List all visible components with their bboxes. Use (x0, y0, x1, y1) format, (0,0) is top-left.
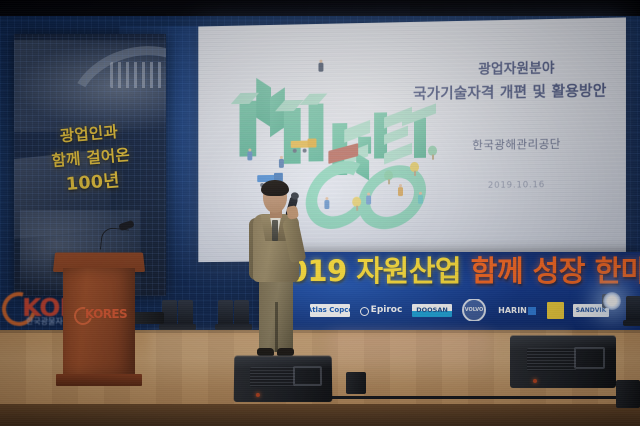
monitor-handle (293, 366, 323, 385)
harin-wordmark: HARIN (498, 306, 527, 315)
sponsor-logo-epiroc: Epiroc (359, 304, 403, 317)
logo-figure (418, 192, 423, 205)
epiroc-wordmark: Epiroc (371, 305, 403, 315)
volvo-iron-mark-icon: VOLVO (462, 299, 486, 321)
stage-light-flare (603, 292, 621, 310)
logo-yellow-loader (291, 137, 317, 150)
event-text-part-1: 자원산업 (356, 254, 461, 288)
presenter (246, 178, 308, 360)
wooden-lectern: KORES (63, 250, 135, 395)
event-text-part-2: 함께 성장 한마당 (471, 254, 640, 288)
event-banner-headline: 2019 자원산업 함께 성장 한마당 (268, 256, 640, 286)
lectern-kores-wordmark: KORES (85, 307, 127, 321)
logo-figure (247, 148, 252, 161)
logo-tree (352, 197, 361, 211)
monitor-power-led (255, 393, 259, 397)
sponsor-logo-volvo: VOLVO (461, 299, 487, 321)
stage-cable (330, 396, 630, 399)
banner-line-2: 함께 걸어온 (51, 146, 131, 170)
stage-front-edge (0, 404, 640, 426)
presenter-hair (261, 180, 289, 196)
slide-organization: 한국광해관리공단 (418, 135, 616, 154)
sponsor-logo-harin: HARIN (496, 304, 538, 317)
presenter-hand (286, 205, 299, 220)
slide-date: 2019.10.16 (418, 179, 616, 192)
uplight-fixture (218, 300, 233, 326)
harin-mark-icon (528, 307, 536, 315)
slide-title: 광업자원분야 국가기술자격 개편 및 활용방안 (418, 56, 616, 108)
uplight-fixture (162, 300, 177, 326)
stage-monitor-speaker-right (510, 336, 616, 388)
gooseneck-microphone (101, 224, 135, 252)
logo-figure (279, 156, 284, 169)
sponsor-logo-doosan: DOOSAN (412, 304, 452, 317)
presenter-trouser-seam (275, 302, 278, 352)
monitor-power-led (533, 379, 537, 383)
logo-figure (366, 193, 371, 206)
uplight-fixture (178, 300, 193, 326)
slide-title-line-2: 국가기술자격 개편 및 활용방안 (404, 79, 616, 108)
logo-tree (384, 170, 393, 184)
sponsor-logo-yellow-mark (547, 302, 564, 319)
banner-line-1: 광업인과 (59, 123, 118, 146)
stage-equipment-box (346, 372, 366, 394)
logo-figure (324, 197, 329, 210)
floor-equipment-case (130, 312, 164, 324)
main-event-banner: 2019 자원산업 함께 성장 한마당 Atlas Copco Epiroc D… (262, 252, 640, 332)
presenter-necktie (272, 220, 278, 241)
monitor-grille (527, 348, 576, 371)
uplight-fixture (626, 296, 640, 322)
logo-tree (410, 162, 419, 176)
sponsor-logo-row: Atlas Copco Epiroc DOOSAN VOLVO HARIN SA… (310, 298, 630, 322)
conference-stage-photo: 광업인과 함께 걸어온 100년 KORES 한국광물자원공사 (0, 0, 640, 426)
lectern-kores-logo: KORES (77, 306, 127, 322)
sponsor-logo-atlas-copco: Atlas Copco (310, 304, 350, 317)
mic-stem (100, 227, 129, 253)
logo-figure (398, 184, 403, 197)
stage-monitor-speaker-center (234, 356, 333, 402)
lectern-front-panel: KORES (63, 268, 135, 376)
epiroc-mark-icon (360, 307, 369, 316)
banner-headline: 광업인과 함께 걸어온 100년 (21, 117, 160, 202)
stage-equipment-box (616, 380, 640, 408)
monitor-handle (574, 347, 606, 369)
logo-figure (318, 60, 323, 73)
monitor-grille (250, 367, 295, 387)
lectern-base (56, 374, 142, 386)
